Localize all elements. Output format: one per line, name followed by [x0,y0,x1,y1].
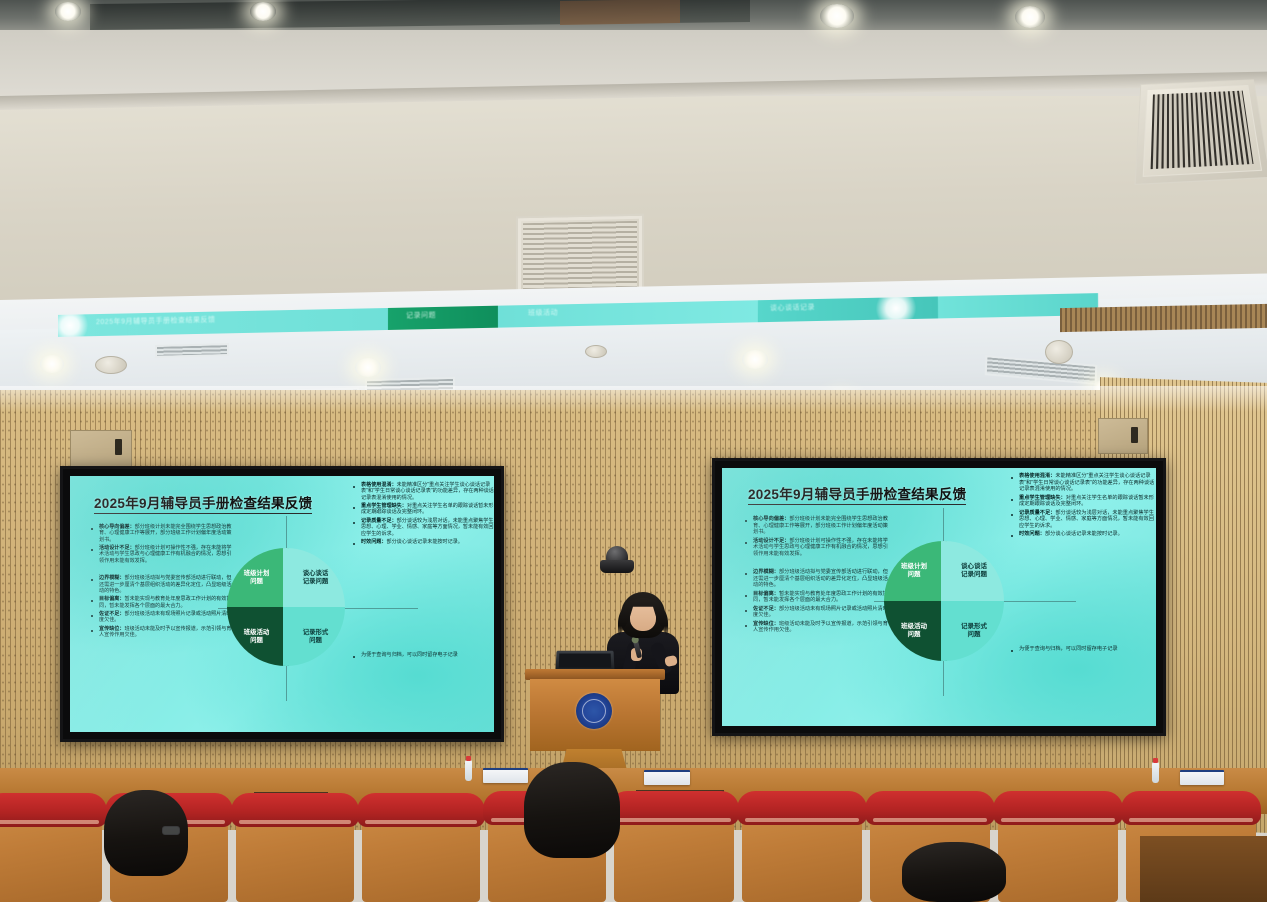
slide-right-column: 表格使用混淆：未能精准区分"重点关注学生谈心谈话记录表"和"学生日常谈心谈话记录… [352,482,494,547]
bullet-item: 宣传缺位：班级活动未能及时予以宣传报道，示范引领与育人宣传作用欠佳。 [744,621,892,634]
bullet-item: 活动设计不足：部分班级计划可操作性不强，存在未能将学术活动与学生思政与心理健康工… [744,538,892,558]
projection-screen-left: 2025年9月辅导员手册检查结果反馈 核心导向偏差：部分班级计划未能完全围绕学生… [60,466,504,742]
attendee-head [902,842,1006,902]
bullet-lead: 宣传缺位： [99,626,124,632]
projection-screen-right: 2025年9月辅导员手册检查结果反馈 核心导向偏差：部分班级计划未能完全围绕学生… [712,458,1166,736]
bullet-item: 核心导向偏差：部分班级计划未能完全围绕学生思想政治教育、心理健康工作等展开，部分… [744,516,892,536]
ceiling-downlight [742,350,768,369]
quadrant-q4: 记录形式问题 [283,607,345,666]
institution-emblem-icon [576,693,612,729]
strip-text: 谈心谈话记录 [770,302,815,313]
quadrant-pie-chart: 班级计划问题 谈心谈话记录问题 班级活动问题 记录形式问题 [227,548,345,666]
nameplate [644,770,690,785]
ceiling-speaker-icon [95,356,127,374]
auditorium-seat [742,798,862,902]
auditorium-seat [998,798,1118,902]
attendee-head [524,762,620,858]
quadrant-label: 班级活动 [244,629,270,636]
bullet-item: 活动设计不足：部分班级计划可操作性不强，存在未能将学术活动与学生思政与心理健康工… [90,545,235,564]
bullet-item: 为便于查询与归档，可以同时留存电子记录 [1010,646,1156,653]
eyeglasses-icon [162,826,180,835]
bullet-lead: 记录质量不足： [361,518,397,524]
bullet-item: 时效问题：部分谈心谈话记录未能按时记录。 [352,539,494,545]
bullet-item: 表格使用混淆：未能精准区分"重点关注学生谈心谈话记录表"和"学生日常谈心谈话记录… [352,482,494,501]
ceiling-downlight [40,355,64,373]
bullet-lead: 活动设计不足： [753,538,789,544]
auditorium-seat [0,800,102,902]
bullet-item: 时效问题：部分谈心谈话记录未能按时记录。 [1010,531,1156,538]
slide-footer-note: 为便于查询与归档，可以同时留存电子记录 [1010,646,1156,655]
bullet-text: 为便于查询与归档，可以同时留存电子记录 [1019,646,1118,652]
quadrant-label: 记录问题 [961,571,987,578]
bullet-lead: 时效问题： [1019,531,1045,537]
floor-strip [1140,836,1267,902]
slide-right-column: 表格使用混淆：未能精准区分"重点关注学生谈心谈话记录表"和"学生日常谈心谈话记录… [1010,473,1156,540]
bullet-lead: 宣传缺位： [753,621,779,627]
bullet-item: 目标偏离：暂未能实现与教育处年度思政工作计划的有效协同，暂未能发挥各个层面的最大… [744,591,892,604]
bullet-item: 重点学生管理缺失：对重点关注学生名单的跟踪谈话暂未形成定期跟踪谈话及完整闭环。 [352,503,494,516]
bullet-item: 核心导向偏差：部分班级计划未能完全围绕学生思想政治教育、心理健康工作等展开，部分… [90,524,235,543]
quadrant-q1: 班级计划问题 [227,548,289,607]
slide-left-column: 核心导向偏差：部分班级计划未能完全围绕学生思想政治教育、心理健康工作等展开，部分… [90,524,235,640]
ceiling-wood-patch [560,0,680,25]
bullet-lead: 记录质量不足： [1019,510,1055,516]
water-bottle-icon [1152,762,1159,783]
slide-left-column: 核心导向偏差：部分班级计划未能完全围绕学生思想政治教育、心理健康工作等展开，部分… [744,516,892,636]
quadrant-label: 班级计划 [244,570,270,577]
quadrant-label: 问题 [908,631,921,638]
bullet-lead: 佐证不足： [753,606,779,612]
ceiling-downlight [55,2,81,21]
water-bottle-icon [465,760,472,781]
quadrant-pie-chart: 班级计划问题 谈心谈话记录问题 班级活动问题 记录形式问题 [884,541,1004,661]
quadrant-label: 记录形式 [303,629,329,636]
ceiling-linear-vent-icon [155,343,229,358]
bullet-item: 佐证不足：部分班级活动未有现场照片记录或活动照片清晰度欠佳。 [744,606,892,619]
bullet-lead: 重点学生管理缺失： [1019,495,1066,501]
strip-text: 班级活动 [528,307,558,318]
slide-title: 2025年9月辅导员手册检查结果反馈 [748,483,966,503]
ceiling-air-vent-icon [516,214,644,297]
bullet-lead: 核心导向偏差： [753,516,789,522]
quadrant-label: 班级活动 [901,623,927,630]
ceiling-downlight [820,4,854,28]
ceiling-diffuser-vent-icon [1135,79,1267,185]
bullet-item: 记录质量不足：部分谈话较为浅层对话，未能重点聚焦学生思想、心理、学业、情感、家庭… [352,518,494,537]
quadrant-label: 问题 [309,637,322,644]
ceiling-speaker-icon [1045,340,1073,364]
quadrant-q2: 谈心谈话记录问题 [283,548,345,607]
quadrant-label: 问题 [250,578,263,585]
slide-title: 2025年9月辅导员手册检查结果反馈 [94,492,312,512]
quadrant-label: 谈心谈话 [303,570,329,577]
bullet-item: 边界模糊：部分班级活动拟与党委宣传部活动进行联动，但还需进一步厘清个基层组织活动… [90,575,235,594]
wall-top-shadow [0,386,1267,412]
auditorium-seat [614,798,734,902]
bullet-lead: 边界模糊： [99,575,124,581]
quadrant-label: 记录形式 [961,623,987,630]
nameplate [483,768,528,783]
bullet-lead: 时效问题： [361,539,386,545]
bullet-item: 重点学生管理缺失：对重点关注学生名单的跟踪谈话暂未形成定期跟踪谈话及完整闭环。 [1010,495,1156,508]
ceiling-downlight [1015,6,1045,28]
quadrant-label: 班级计划 [901,563,927,570]
auditorium-scene: 2025年9月辅导员手册检查结果反馈 记录问题 班级活动 谈心谈话记录 2025… [0,0,1267,902]
bullet-text: 部分谈心谈话记录未能按时记录。 [386,539,462,545]
slide-footer-note: 为便于查询与归档，可以同时留存电子记录 [352,652,494,660]
bullet-lead: 目标偏离： [753,591,779,597]
quadrant-q4: 记录形式问题 [941,601,1004,661]
quadrant-label: 问题 [968,631,981,638]
bullet-item: 为便于查询与归档，可以同时留存电子记录 [352,652,494,658]
slide-title-text: 2025年9月辅导员手册检查结果反馈 [748,487,966,502]
slide-right: 2025年9月辅导员手册检查结果反馈 核心导向偏差：部分班级计划未能完全围绕学生… [722,468,1156,726]
wall-speaker-icon [1098,418,1148,454]
quadrant-label: 问题 [250,637,263,644]
bullet-text: 部分谈心谈话记录未能按时记录。 [1045,531,1123,537]
bullet-item: 表格使用混淆：未能精准区分"重点关注学生谈心谈话记录表"和"学生日常谈心谈话记录… [1010,473,1156,493]
nameplate [1180,770,1224,785]
quadrant-q3: 班级活动问题 [884,601,947,661]
bullet-lead: 目标偏离： [99,596,124,602]
wall-speaker-icon [70,430,132,470]
ptz-camera-icon [600,546,634,576]
quadrant-q2: 谈心谈话记录问题 [941,541,1004,601]
bullet-text: 为便于查询与归档，可以同时留存电子记录 [361,652,458,658]
bullet-lead: 边界模糊： [753,569,779,575]
ceiling-speaker-icon [585,345,607,358]
bullet-item: 目标偏离：暂未能实现与教育处年度思政工作计划的有效协同，暂未能发挥各个层面的最大… [90,596,235,609]
quadrant-q1: 班级计划问题 [884,541,947,601]
bullet-lead: 表格使用混淆： [1019,473,1055,479]
quadrant-label: 记录问题 [303,578,329,585]
quadrant-q3: 班级活动问题 [227,607,289,666]
auditorium-seat [362,800,480,902]
bullet-item: 佐证不足：部分班级活动未有现场照片记录或活动照片清晰度欠佳。 [90,611,235,624]
auditorium-seat [236,800,354,902]
quadrant-label: 问题 [908,571,921,578]
slide-title-text: 2025年9月辅导员手册检查结果反馈 [94,496,312,511]
slide-left: 2025年9月辅导员手册检查结果反馈 核心导向偏差：部分班级计划未能完全围绕学生… [70,476,494,732]
bullet-item: 宣传缺位：班级活动未能及时予以宣传报道，示范引领与育人宣传作用欠佳。 [90,626,235,639]
ceiling-downlight [250,2,276,21]
quadrant-label: 谈心谈话 [961,563,987,570]
strip-text: 记录问题 [406,310,436,321]
bullet-item: 边界模糊：部分班级活动拟与党委宣传部活动进行联动，但还需进一步厘清个基层组织活动… [744,569,892,589]
ceiling-downlight [355,358,381,377]
bullet-item: 记录质量不足：部分谈话较为浅层对话，未能重点聚焦学生思想、心理、学业、情感、家庭… [1010,510,1156,530]
soffit-wood-trim [1060,304,1267,332]
